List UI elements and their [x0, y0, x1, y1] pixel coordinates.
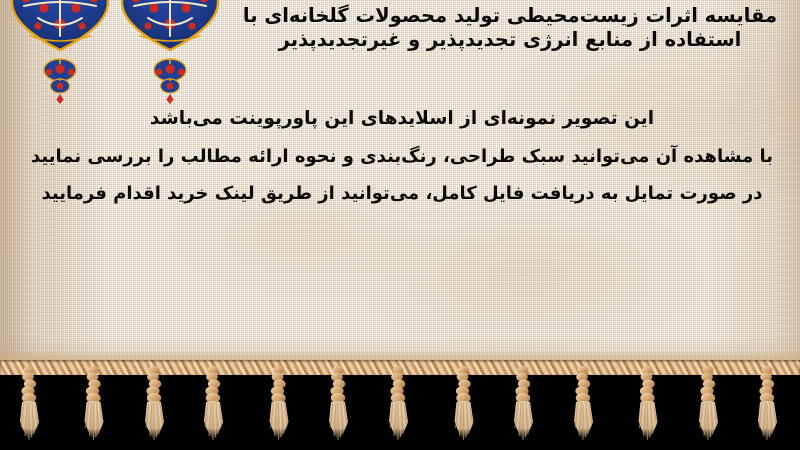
fringe-tassel — [14, 366, 48, 450]
persian-illumination-medallion-icon — [118, 0, 222, 104]
fringe-tassel — [691, 366, 725, 450]
fringe-tassel — [321, 366, 355, 450]
tassel-icon — [445, 366, 479, 450]
ornament-group — [0, 0, 230, 104]
fringe-tassel — [260, 366, 294, 450]
tassel-icon — [506, 366, 540, 450]
persian-illumination-medallion-icon — [8, 0, 112, 104]
body-line-3: در صورت تمایل به دریافت فایل کامل، می‌تو… — [24, 185, 780, 203]
tassel-icon — [321, 366, 355, 450]
tassel-icon — [137, 366, 171, 450]
body-line-2: با مشاهده آن می‌توانید سبک طراحی، رنگ‌بن… — [24, 148, 780, 166]
tassel-icon — [260, 366, 294, 450]
title-line-2: استفاده از منابع انرژی تجدیدپذیر و غیرتج… — [232, 28, 788, 52]
fringe-tassel — [383, 366, 417, 450]
tassel-icon — [691, 366, 725, 450]
fringe-tassel — [75, 366, 109, 450]
fringe-tassel — [506, 366, 540, 450]
fringe-tassel — [137, 366, 171, 450]
tassel-icon — [198, 366, 232, 450]
fringe-tassel — [752, 366, 786, 450]
fringe-tassel — [198, 366, 232, 450]
presentation-slide: مقایسه اثرات زیست‌محیطی تولید محصولات گل… — [0, 0, 800, 450]
tassel-icon — [568, 366, 602, 450]
tassel-icon — [383, 366, 417, 450]
fringe-tassel — [568, 366, 602, 450]
fringe-tassel — [445, 366, 479, 450]
fringe-tassel — [629, 366, 663, 450]
tassel-icon — [75, 366, 109, 450]
carpet-fringe — [0, 360, 800, 450]
title-line-1: مقایسه اثرات زیست‌محیطی تولید محصولات گل… — [232, 4, 788, 28]
slide-title: مقایسه اثرات زیست‌محیطی تولید محصولات گل… — [232, 4, 788, 52]
body-line-1: این تصویر نمونه‌ای از اسلایدهای این پاور… — [24, 110, 780, 129]
tassel-icon — [629, 366, 663, 450]
tassel-icon — [14, 366, 48, 450]
slide-body-text: این تصویر نمونه‌ای از اسلایدهای این پاور… — [24, 110, 780, 203]
tassel-icon — [752, 366, 786, 450]
